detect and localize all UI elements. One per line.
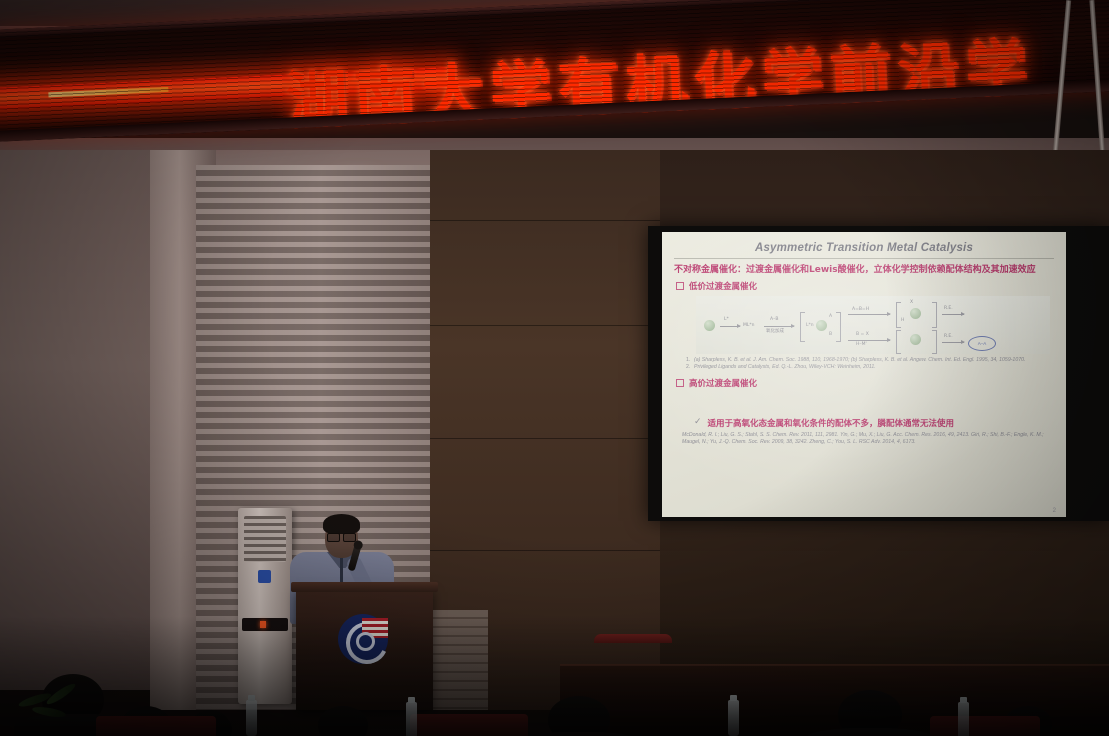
bracket-left-2 [896, 302, 901, 328]
scheme-label-ABH: A=B=H [852, 307, 869, 312]
slide-bullet-1: 低价过渡金属催化 [676, 280, 1056, 292]
stage-steps [430, 610, 488, 710]
audience-seat-2 [410, 714, 528, 736]
slide-references-top: 1.(a) Sharpless, K. B. et al. J. Am. Che… [686, 357, 1052, 372]
slide-references-bottom: McDonald, R. I.; Liu, G. S.; Stahl, S. S… [682, 432, 1050, 447]
scheme-label-L: L* [724, 317, 729, 322]
lecture-hall-photo: 湖南大学有机化学前沿学 Asymmetric Transition Metal … [0, 0, 1109, 736]
ac-brand-badge [258, 570, 271, 583]
metal-center-1 [704, 320, 715, 331]
bracket-left-1 [800, 312, 805, 342]
potted-plant [18, 688, 88, 736]
projection-screen: Asymmetric Transition Metal Catalysis 不对… [662, 232, 1066, 517]
scheme-arrow-4 [848, 340, 890, 341]
slide-heading-cn: 不对称金属催化：过渡金属催化和Lewis酸催化，立体化学控制依赖配体结构及其加速… [674, 264, 1054, 276]
slide-bullet-1-label: 低价过渡金属催化 [689, 280, 757, 292]
scheme-label-A-1: A [829, 314, 832, 319]
ac-grille-icon [244, 516, 286, 562]
scheme-arrow-2 [764, 326, 794, 327]
square-bullet-icon [676, 379, 684, 387]
water-bottle-4 [958, 702, 969, 736]
audience-head-6 [548, 696, 610, 736]
bottle-cap [960, 697, 967, 703]
scheme-label-H-1: H [901, 318, 904, 323]
bottle-cap [730, 695, 737, 701]
logo-center-dot [356, 632, 375, 651]
bracket-right-1 [836, 312, 841, 342]
square-bullet-icon [676, 282, 684, 290]
presentation-slide: Asymmetric Transition Metal Catalysis 不对… [662, 232, 1066, 517]
air-conditioner-unit[interactable] [238, 508, 292, 704]
metal-center-2 [816, 320, 827, 331]
water-bottle-2 [406, 702, 417, 736]
eyeglasses-icon [327, 533, 356, 540]
audience-seat-3 [930, 716, 1040, 736]
metal-center-3 [910, 308, 921, 319]
audience-seat-1 [96, 716, 216, 736]
slide-page-number: 2 [1053, 508, 1056, 514]
title-divider [674, 258, 1054, 259]
scheme-label-B-1: B [829, 332, 832, 337]
catalytic-cycle-scheme: L* ML*n A–B 氧化加成 L*n A B A=B=H B = X H–M… [696, 296, 1050, 354]
checkmark-icon: ✓ [694, 417, 702, 426]
slide-bullet-2: 高价过渡金属催化 [676, 377, 1056, 389]
water-bottle-3 [728, 700, 739, 736]
university-crest-logo [338, 614, 388, 664]
bottle-cap [248, 695, 255, 701]
scheme-label-RE-2: R.E. [944, 334, 953, 339]
bottle-cap [408, 697, 415, 703]
bracket-left-3 [896, 330, 901, 354]
scheme-arrow-1 [720, 326, 740, 327]
plant-leaf-2 [32, 705, 67, 719]
water-bottle-1 [246, 700, 257, 736]
audience-head-4 [318, 706, 368, 736]
scheme-label-oxidative-addition: 氧化加成 [766, 328, 784, 334]
metal-center-4 [910, 334, 921, 345]
lectern [296, 588, 433, 710]
chair-1-top [594, 634, 672, 643]
led-banner: 湖南大学有机化学前沿学 [0, 0, 1109, 142]
chair-3 [820, 634, 898, 668]
lectern-top [291, 582, 438, 592]
slide-bullet-2-label: 高价过渡金属催化 [689, 377, 757, 389]
reference-item-1: 1.(a) Sharpless, K. B. et al. J. Am. Che… [686, 357, 1052, 364]
scheme-arrow-3 [848, 314, 890, 315]
slide-title: Asymmetric Transition Metal Catalysis [672, 237, 1056, 258]
scheme-arrow-5 [942, 314, 964, 315]
scheme-label-RE-1: R.E. [944, 306, 953, 311]
reference-item-2: 2.Privileged Ligands and Catalysts, Ed. … [686, 364, 1052, 371]
bracket-right-2 [932, 302, 937, 328]
slide-check-label: 适用于高氧化态金属和氧化条件的配体不多，膦配体通常无法使用 [708, 417, 955, 429]
scheme-product-AA: A–A [968, 336, 996, 351]
speaker-hair [323, 514, 360, 534]
chair-5 [1058, 634, 1109, 668]
scheme-label-Ln: L*n [806, 323, 814, 328]
chair-2 [704, 634, 782, 668]
scheme-label-MLn: ML*n [743, 323, 755, 328]
scheme-label-AB: A–B [770, 317, 778, 322]
chair-4 [940, 634, 1018, 668]
ac-display-panel [242, 618, 288, 631]
projection-screen-frame: Asymmetric Transition Metal Catalysis 不对… [648, 226, 1109, 521]
slide-check-line: ✓ 适用于高氧化态金属和氧化条件的配体不多，膦配体通常无法使用 [694, 417, 1046, 429]
scheme-label-BX: B = X [856, 332, 869, 337]
scheme-arrow-6 [942, 342, 964, 343]
scheme-label-HM: H–M' [856, 342, 867, 347]
bracket-right-3 [932, 330, 937, 354]
scheme-label-X-1: X [910, 300, 913, 305]
